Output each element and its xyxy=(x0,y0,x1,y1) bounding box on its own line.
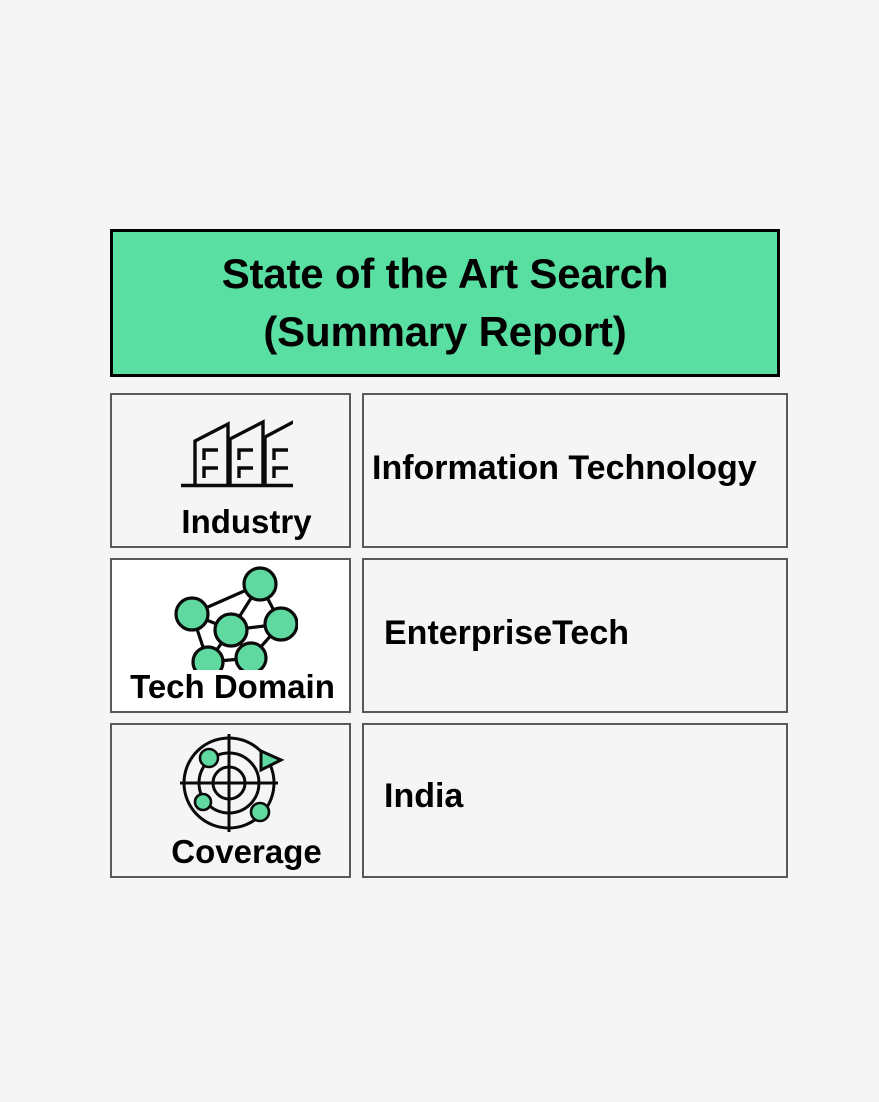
radar-icon-wrap xyxy=(112,729,353,833)
network-nodes xyxy=(176,568,297,670)
factory-icon xyxy=(173,408,293,494)
table-row: Tech Domain EnterpriseTech xyxy=(110,558,788,713)
row-label-tech-domain: Tech Domain xyxy=(112,670,353,705)
row-label-coverage: Coverage xyxy=(112,835,367,870)
value-cell-industry: Information Technology xyxy=(362,393,788,548)
factory-icon-wrap xyxy=(112,399,353,503)
page-title: State of the Art Search (Summary Report) xyxy=(222,245,669,361)
page-title-line-1: State of the Art Search xyxy=(222,245,669,303)
label-cell-coverage: Coverage xyxy=(110,723,351,878)
table-row: Coverage India xyxy=(110,723,788,878)
radar-icon xyxy=(177,729,289,833)
label-cell-tech-domain: Tech Domain xyxy=(110,558,351,713)
network-graph-icon xyxy=(168,562,298,670)
row-label-industry: Industry xyxy=(112,505,367,540)
page-title-line-2: (Summary Report) xyxy=(222,303,669,361)
label-cell-industry: Industry xyxy=(110,393,351,548)
row-value-coverage: India xyxy=(364,779,463,813)
row-value-industry: Information Technology xyxy=(364,451,757,485)
value-cell-coverage: India xyxy=(362,723,788,878)
summary-report-card: State of the Art Search (Summary Report) xyxy=(110,229,788,881)
row-value-tech-domain: EnterpriseTech xyxy=(364,616,629,650)
table-row: Industry Information Technology xyxy=(110,393,788,548)
network-graph-icon-wrap xyxy=(112,564,353,668)
report-header-banner: State of the Art Search (Summary Report) xyxy=(110,229,780,377)
value-cell-tech-domain: EnterpriseTech xyxy=(362,558,788,713)
